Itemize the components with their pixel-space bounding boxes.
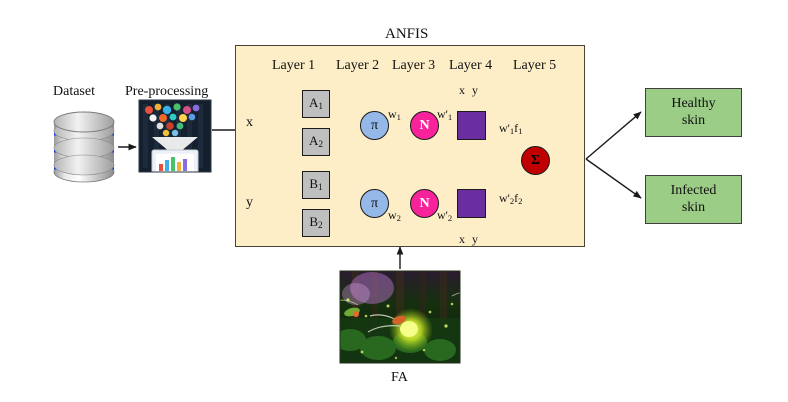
membership-node-b1-label: B1	[309, 176, 322, 193]
dataset-label: Dataset	[53, 85, 95, 99]
output-healthy-line2: skin	[682, 113, 705, 129]
defuzz-node-2[interactable]	[457, 189, 486, 218]
product-node-pi2-label: π	[371, 196, 378, 212]
output-healthy-line1: Healthy	[671, 96, 715, 112]
output-infected-line1: Infected	[671, 183, 717, 199]
norm-weight-w1-label: w'1	[437, 108, 452, 122]
membership-node-b2-label: B2	[309, 214, 322, 231]
defuzz-1-input-label: x y	[459, 84, 480, 96]
output-infected-line2: skin	[682, 200, 705, 216]
norm-weight-w2-label: w'2	[437, 209, 452, 223]
norm-node-n1-label: N	[419, 118, 429, 134]
layer-label-4: Layer 4	[449, 59, 492, 73]
membership-node-a1-label: A1	[309, 95, 323, 112]
input-x-label: x	[246, 116, 253, 130]
sum-node-label: Σ	[531, 153, 540, 169]
layer-label-3: Layer 3	[392, 59, 435, 73]
input-y-label: y	[246, 196, 253, 210]
membership-node-a1[interactable]: A1	[302, 90, 330, 118]
output-healthy-skin[interactable]: Healthy skin	[645, 88, 742, 137]
product-node-pi1[interactable]: π	[360, 111, 389, 140]
sum-node[interactable]: Σ	[521, 146, 550, 175]
firefly-thumbnail-graphic	[334, 271, 472, 363]
norm-node-n1[interactable]: N	[410, 111, 439, 140]
fa-label: FA	[391, 371, 408, 385]
diagram-canvas: ANFIS Layer 1 Layer 2 Layer 3 Layer 4 La…	[0, 0, 788, 402]
norm-node-n2[interactable]: N	[410, 189, 439, 218]
arrow-to-healthy	[586, 112, 641, 159]
weight-w2-label: w2	[388, 209, 401, 223]
membership-node-a2-label: A2	[309, 133, 323, 150]
preprocessing-thumbnail-graphic	[139, 100, 211, 182]
membership-node-b2[interactable]: B2	[302, 209, 330, 237]
preprocessing-label: Pre-processing	[125, 85, 208, 99]
weight-w1-label: w1	[388, 108, 401, 122]
norm-node-n2-label: N	[419, 196, 429, 212]
defuzz-node-1[interactable]	[457, 111, 486, 140]
arrow-to-infected	[586, 159, 641, 198]
product-node-pi1-label: π	[371, 118, 378, 134]
anfis-title: ANFIS	[385, 27, 428, 42]
membership-node-a2[interactable]: A2	[302, 128, 330, 156]
membership-node-b1[interactable]: B1	[302, 171, 330, 199]
defuzz-2-input-label: x y	[459, 233, 480, 245]
product-node-pi2[interactable]: π	[360, 189, 389, 218]
layer-label-1: Layer 1	[272, 59, 315, 73]
consequent-2-label: w'2f2	[499, 192, 522, 206]
layer-label-5: Layer 5	[513, 59, 556, 73]
dataset-cylinder-graphic	[54, 112, 114, 182]
consequent-1-label: w'1f1	[499, 122, 522, 136]
output-infected-skin[interactable]: Infected skin	[645, 175, 742, 224]
layer-label-2: Layer 2	[336, 59, 379, 73]
